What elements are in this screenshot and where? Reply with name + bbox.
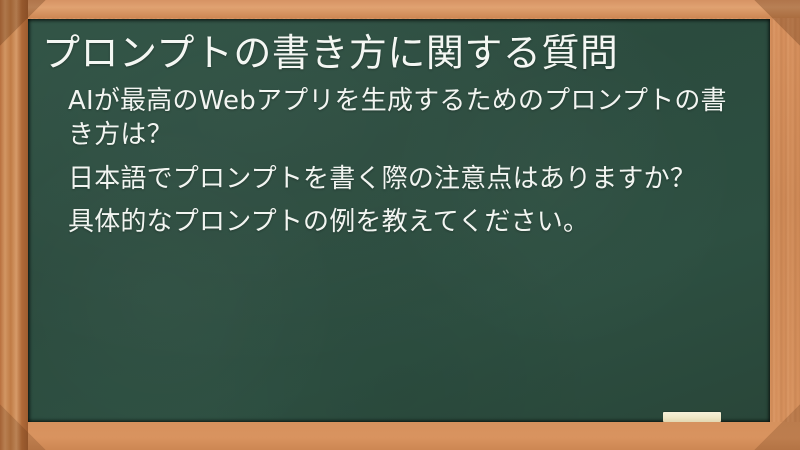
frame-right-rail xyxy=(770,0,800,450)
frame-bottom-rail xyxy=(0,422,800,450)
list-item: 具体的なプロンプトの例を教えてください。 xyxy=(68,206,730,240)
chalk-stick xyxy=(663,412,721,422)
question-list: AIが最高のWebアプリを生成するためのプロンプトの書き方は？ 日本語でプロンプ… xyxy=(42,85,752,240)
list-item: 日本語でプロンプトを書く際の注意点はありますか？ xyxy=(68,163,730,197)
list-item: AIが最高のWebアプリを生成するためのプロンプトの書き方は？ xyxy=(68,85,730,153)
slide-stage: プロンプトの書き方に関する質問 AIが最高のWebアプリを生成するためのプロンプ… xyxy=(0,0,800,450)
chalkboard: プロンプトの書き方に関する質問 AIが最高のWebアプリを生成するためのプロンプ… xyxy=(28,19,770,422)
page-title: プロンプトの書き方に関する質問 xyxy=(42,31,752,75)
frame-left-rail xyxy=(0,0,28,450)
frame-top-rail xyxy=(0,0,800,18)
chalkboard-content: プロンプトの書き方に関する質問 AIが最高のWebアプリを生成するためのプロンプ… xyxy=(28,19,770,422)
